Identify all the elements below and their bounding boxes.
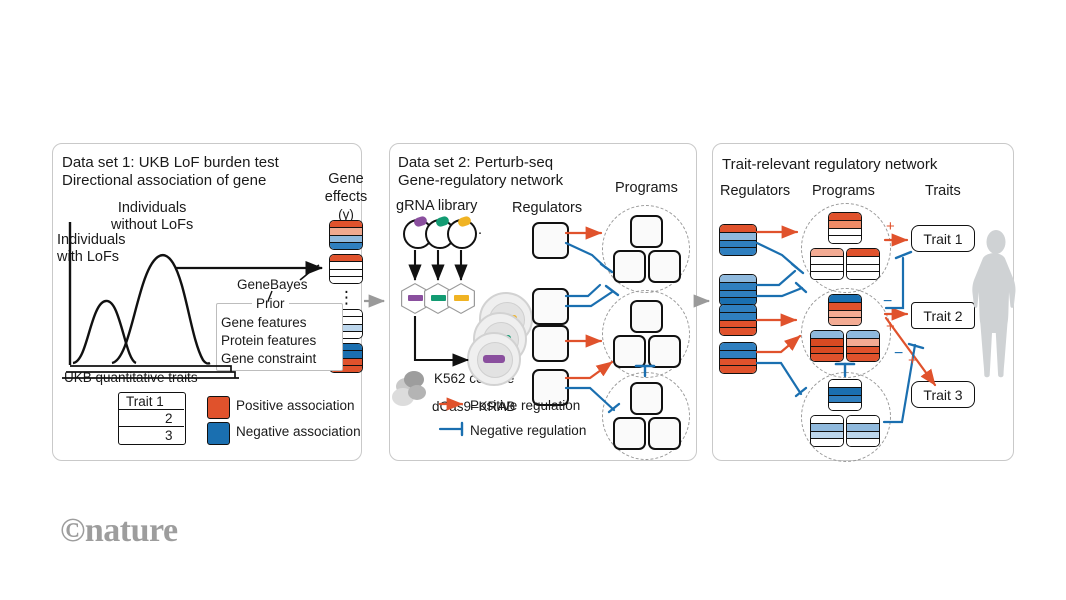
prior-item-protein-features: Protein features [221, 333, 316, 349]
label-genebayes: GeneBayes [237, 277, 308, 293]
program-chip [828, 294, 862, 326]
program-box [613, 335, 646, 368]
panel2-title-line1: Data set 2: Perturb-seq [398, 154, 553, 172]
regulator-chip [719, 274, 757, 306]
trait-box-3[interactable]: Trait 3 [911, 381, 975, 408]
figure-root: Data set 1: UKB LoF burden test Directio… [0, 0, 1066, 600]
trait-stack-item: 3 [165, 428, 173, 444]
human-silhouette-icon [968, 228, 1024, 393]
hex-bar [431, 295, 446, 301]
program-box [648, 417, 681, 450]
program-box [630, 382, 663, 415]
column-label-traits: Traits [925, 183, 961, 200]
label-gene-effects-line2: effects [318, 189, 374, 206]
label-programs: Programs [615, 180, 678, 197]
program-chip [810, 415, 844, 447]
nature-watermark: ©nature [60, 512, 178, 550]
program-box [648, 250, 681, 283]
gene-effect-chip [329, 220, 363, 250]
prior-item-gene-constraint: Gene constraint [221, 351, 316, 367]
label-individuals-with-lofs: Individuals with LoFs [57, 232, 126, 266]
panel3-title: Trait-relevant regulatory network [722, 156, 937, 174]
trait-stack-item: Trait 1 [126, 394, 164, 410]
label-grna-library: gRNA library [396, 198, 477, 215]
panel1-title-line1: Data set 1: UKB LoF burden test [62, 154, 279, 172]
panel1-title-line2: Directional association of gene [62, 172, 266, 190]
label-ukb-quantitative-traits: UKB quantitative traits [64, 370, 198, 386]
petri-bar [483, 355, 505, 363]
trait-stack-divider [118, 426, 184, 427]
hex-bar [454, 295, 469, 301]
prior-item-gene-features: Gene features [221, 315, 307, 331]
program-box [613, 417, 646, 450]
panel2-title-line2: Gene-regulatory network [398, 172, 563, 190]
hex-bar [408, 295, 423, 301]
legend-label-negative-association: Negative association [236, 424, 361, 440]
program-chip [810, 330, 844, 362]
program-chip [846, 330, 880, 362]
label-regulators: Regulators [512, 200, 582, 217]
legend-label-positive-regulation: Positive regulation [470, 398, 580, 414]
label-gene-effects-line1: Gene [322, 171, 370, 188]
regulator-box [532, 222, 569, 259]
regulator-chip [719, 342, 757, 374]
program-box [630, 300, 663, 333]
trait-box-2[interactable]: Trait 2 [911, 302, 975, 329]
program-box [613, 250, 646, 283]
regulator-box [532, 325, 569, 362]
regulator-chip [719, 304, 757, 336]
legend-label-positive-association: Positive association [236, 398, 355, 414]
trait-stack-item: 2 [165, 411, 173, 427]
program-chip [846, 415, 880, 447]
program-box [648, 335, 681, 368]
program-chip [828, 379, 862, 411]
column-label-programs: Programs [812, 183, 875, 200]
program-chip [810, 248, 844, 280]
petri-dish [467, 332, 521, 386]
legend-label-negative-regulation: Negative regulation [470, 423, 586, 439]
program-chip [828, 212, 862, 244]
prior-heading: Prior [252, 296, 289, 312]
legend-swatch-positive-association [207, 396, 230, 419]
legend-swatch-negative-association [207, 422, 230, 445]
regulator-chip [719, 224, 757, 256]
label-individuals-without-lofs: Individuals without LoFs [111, 200, 193, 234]
program-box [630, 215, 663, 248]
trait-box-1[interactable]: Trait 1 [911, 225, 975, 252]
program-chip [846, 248, 880, 280]
gene-effect-chip [329, 254, 363, 284]
dcas9-blob [408, 385, 426, 400]
column-label-regulators: Regulators [720, 183, 790, 200]
regulator-box [532, 288, 569, 325]
